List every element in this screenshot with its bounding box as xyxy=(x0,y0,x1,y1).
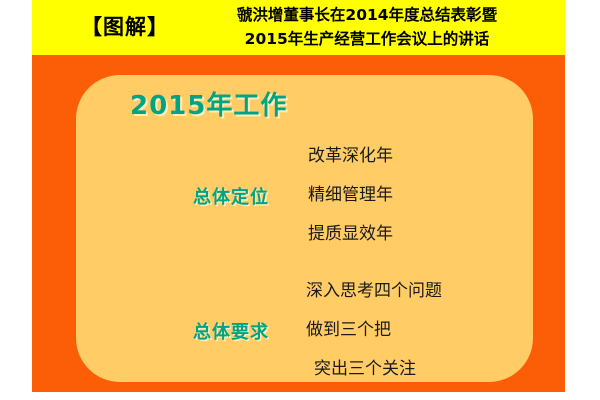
list-item: 提质显效年 xyxy=(298,215,393,254)
slide-canvas: 【图解】 虢洪增董事长在2014年度总结表彰暨 2015年生产经营工作会议上的讲… xyxy=(0,0,600,400)
list-item: 做到三个把 xyxy=(298,311,442,350)
list-item: 精细管理年 xyxy=(298,176,393,215)
list-item: 深入思考四个问题 xyxy=(298,272,442,311)
header-tag-label: 【图解】 xyxy=(60,12,190,42)
group-label-requirements: 总体要求 xyxy=(193,318,298,344)
header-title: 虢洪增董事长在2014年度总结表彰暨 2015年生产经营工作会议上的讲话 xyxy=(197,3,537,51)
header-band: 【图解】 虢洪增董事长在2014年度总结表彰暨 2015年生产经营工作会议上的讲… xyxy=(32,0,565,55)
content-group-requirements: 总体要求 深入思考四个问题 做到三个把 突出三个关注 xyxy=(193,272,442,389)
group-items-requirements: 深入思考四个问题 做到三个把 突出三个关注 xyxy=(298,272,442,389)
group-items-positioning: 改革深化年 精细管理年 提质显效年 xyxy=(298,137,393,254)
header-title-line-2: 2015年生产经营工作会议上的讲话 xyxy=(197,27,537,51)
group-label-positioning: 总体定位 xyxy=(193,183,298,209)
page-title: 2015年工作 xyxy=(130,85,287,122)
content-group-positioning: 总体定位 改革深化年 精细管理年 提质显效年 xyxy=(193,137,393,254)
header-title-line-1: 虢洪增董事长在2014年度总结表彰暨 xyxy=(197,3,537,27)
list-item: 突出三个关注 xyxy=(298,350,442,389)
list-item: 改革深化年 xyxy=(298,137,393,176)
